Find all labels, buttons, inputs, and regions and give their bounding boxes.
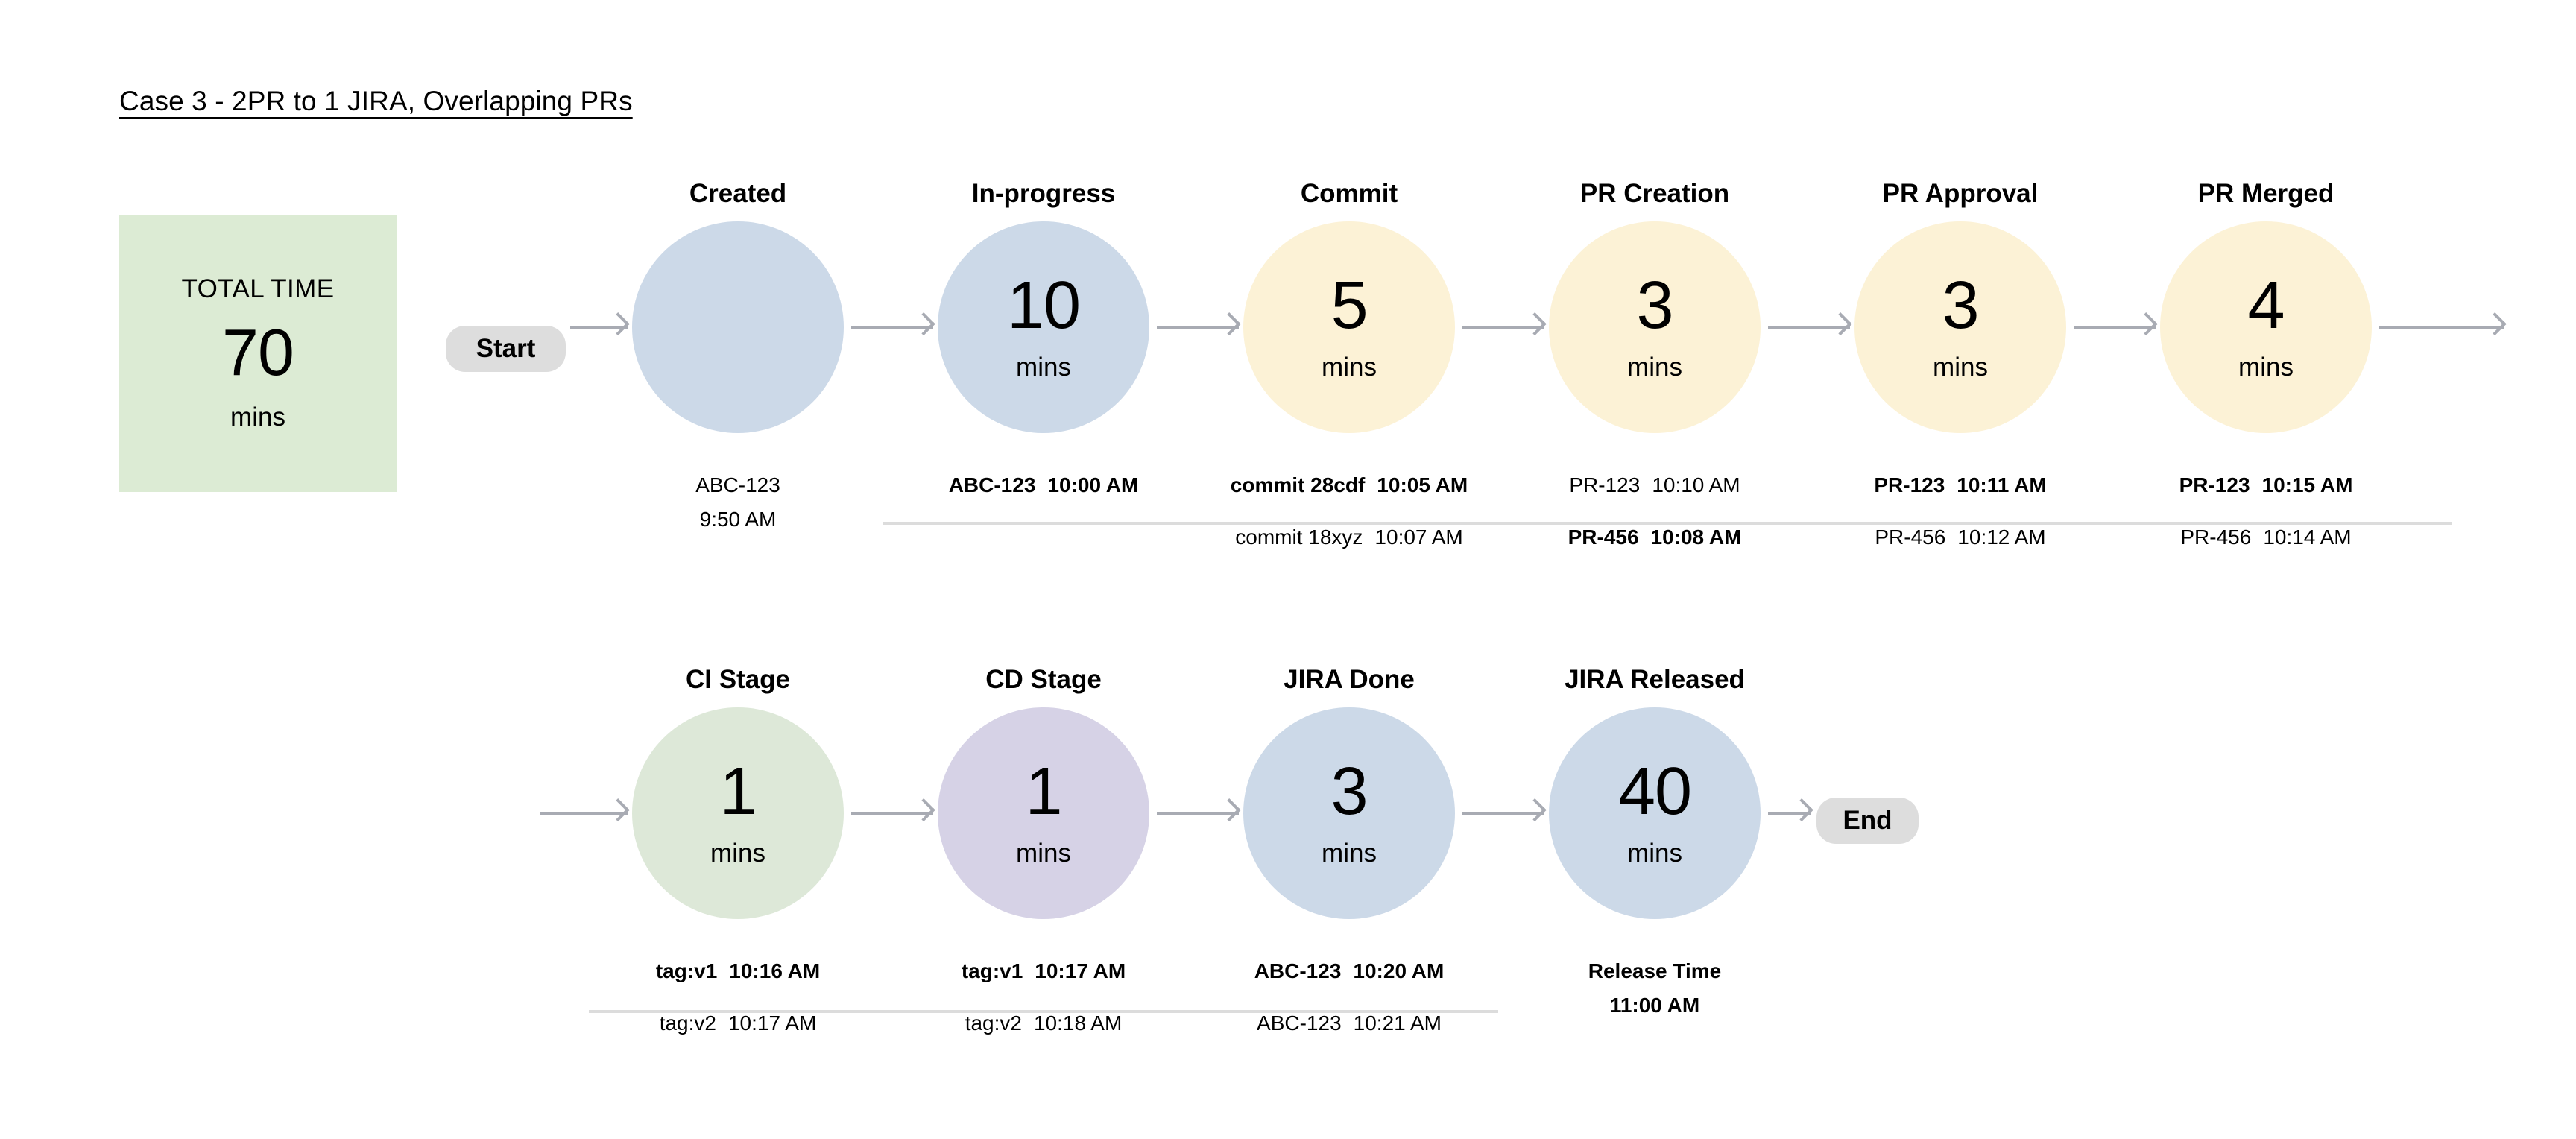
entry-id: PR-123 <box>1569 468 1640 502</box>
stage-duration-unit: mins <box>1627 839 1682 868</box>
entry-time: 10:15 AM <box>2262 468 2353 502</box>
entry-time: 10:08 AM <box>1651 520 1742 555</box>
stage-entry: ABC-12310:20 AM <box>1254 954 1445 988</box>
flow-arrow-icon <box>851 805 933 821</box>
stage-duration-unit: mins <box>1322 353 1377 382</box>
entry-id: commit 18xyz <box>1235 520 1363 555</box>
flow-arrow-icon <box>1768 319 1850 335</box>
stage-duration-value: 5 <box>1330 272 1367 339</box>
stage-duration-unit: mins <box>1016 839 1071 868</box>
stage-duration-unit: mins <box>710 839 765 868</box>
entry-time: 10:05 AM <box>1377 468 1468 502</box>
stage-entries: PR-12310:11 AMPR-45610:12 AM <box>1874 468 2046 555</box>
stage-duration-value: 40 <box>1618 758 1691 825</box>
entry-time: 9:50 AM <box>700 502 777 537</box>
flow-arrow-icon <box>1157 319 1239 335</box>
entry-time: 10:18 AM <box>1034 1006 1122 1041</box>
stage-title: CD Stage <box>985 665 1102 695</box>
stage-duration-value: 4 <box>2247 272 2284 339</box>
stage-entry: Release Time11:00 AM <box>1588 954 1722 988</box>
stage-entry: PR-45610:14 AM <box>2180 520 2351 555</box>
stage-duration-value: 3 <box>1942 272 1978 339</box>
start-badge[interactable]: Start <box>446 326 566 372</box>
flow-arrow-icon <box>2074 319 2156 335</box>
total-time-value: 70 <box>222 315 294 390</box>
entry-time: 10:00 AM <box>1047 468 1138 502</box>
stage-entries: PR-12310:15 AMPR-45610:14 AM <box>2179 468 2353 555</box>
stage-duration-value: 1 <box>719 758 756 825</box>
stage-duration-unit: mins <box>1933 353 1988 382</box>
entry-time: 10:10 AM <box>1652 468 1740 502</box>
flow-arrow-icon <box>851 319 933 335</box>
entry-id: ABC-123 <box>1257 1006 1342 1041</box>
stage-duration-value: 1 <box>1025 758 1061 825</box>
stage-title: JIRA Done <box>1284 665 1415 695</box>
stage-entry: commit 28cdf10:05 AM <box>1231 468 1468 502</box>
stage-circle[interactable]: 4mins <box>2160 221 2372 433</box>
stage-circle[interactable] <box>632 221 844 433</box>
stage-title: Created <box>689 179 786 209</box>
flow-arrow-icon <box>1462 319 1544 335</box>
flow-arrow-icon <box>1462 805 1544 821</box>
stage-entries: PR-12310:10 AMPR-45610:08 AM <box>1568 468 1742 555</box>
stage-duration-value: 3 <box>1636 272 1673 339</box>
entry-id: tag:v1 <box>656 954 717 988</box>
stage-entries: ABC-12310:20 AMABC-12310:21 AM <box>1254 954 1445 1041</box>
stage-duration-unit: mins <box>1322 839 1377 868</box>
entry-time: 10:16 AM <box>729 954 820 988</box>
stage-title: PR Merged <box>2198 179 2334 209</box>
entry-time: 11:00 AM <box>1610 988 1699 1023</box>
flow-arrow-icon <box>1157 805 1239 821</box>
flow-arrow-icon <box>540 805 628 821</box>
entry-id: commit 28cdf <box>1231 468 1366 502</box>
stage-entry: ABC-12310:00 AM <box>949 468 1139 502</box>
flow-arrow-icon <box>570 319 628 335</box>
stage-title: PR Approval <box>1883 179 2039 209</box>
stage-entry: ABC-12310:21 AM <box>1257 1006 1442 1041</box>
stage-entry: PR-12310:10 AM <box>1569 468 1740 502</box>
entry-time: 10:14 AM <box>2263 520 2351 555</box>
stage-entries: tag:v110:17 AMtag:v210:18 AM <box>962 954 1126 1041</box>
entry-id: PR-456 <box>1875 520 1945 555</box>
stage-circle[interactable]: 5mins <box>1243 221 1455 433</box>
stage-entry: commit 18xyz10:07 AM <box>1235 520 1462 555</box>
stage-title: In-progress <box>972 179 1116 209</box>
entry-id: PR-456 <box>1568 520 1639 555</box>
stage-duration-unit: mins <box>2238 353 2294 382</box>
stage-circle[interactable]: 10mins <box>938 221 1149 433</box>
stage-circle[interactable]: 3mins <box>1243 707 1455 919</box>
page-title: Case 3 - 2PR to 1 JIRA, Overlapping PRs <box>119 86 633 117</box>
entry-time: 10:21 AM <box>1354 1006 1442 1041</box>
stage-entries: ABC-1239:50 AM <box>695 468 780 502</box>
stage-entry: tag:v210:17 AM <box>660 1006 817 1041</box>
entry-id: PR-456 <box>2180 520 2251 555</box>
stage-entry: tag:v210:18 AM <box>965 1006 1123 1041</box>
flow-arrow-icon <box>1768 805 1811 821</box>
stage-circle[interactable]: 3mins <box>1549 221 1761 433</box>
entry-id: ABC-123 <box>695 468 780 502</box>
entry-id: ABC-123 <box>949 468 1036 502</box>
entry-id: tag:v2 <box>965 1006 1022 1041</box>
stage-duration-value: 10 <box>1007 272 1080 339</box>
stage-title: JIRA Released <box>1565 665 1745 695</box>
stage-entry: PR-45610:12 AM <box>1875 520 2045 555</box>
diagram-canvas: Case 3 - 2PR to 1 JIRA, Overlapping PRs … <box>0 0 2576 1139</box>
stage-entry: tag:v110:17 AM <box>962 954 1126 988</box>
stage-duration-unit: mins <box>1627 353 1682 382</box>
end-badge[interactable]: End <box>1816 798 1919 844</box>
entry-id: PR-123 <box>2179 468 2250 502</box>
stage-entries: Release Time11:00 AM <box>1588 954 1722 988</box>
stage-title: Commit <box>1301 179 1398 209</box>
stage-entries: tag:v110:16 AMtag:v210:17 AM <box>656 954 820 1041</box>
entry-time: 10:17 AM <box>1035 954 1126 988</box>
entry-time: 10:07 AM <box>1374 520 1462 555</box>
entry-id: PR-123 <box>1874 468 1945 502</box>
stage-duration-value: 3 <box>1330 758 1367 825</box>
entry-time: 10:12 AM <box>1957 520 2045 555</box>
stage-entry: PR-12310:15 AM <box>2179 468 2353 502</box>
stage-entries: commit 28cdf10:05 AMcommit 18xyz10:07 AM <box>1231 468 1468 555</box>
stage-circle[interactable]: 3mins <box>1854 221 2066 433</box>
stage-circle[interactable]: 1mins <box>938 707 1149 919</box>
stage-entry: ABC-1239:50 AM <box>695 468 780 502</box>
entry-id: tag:v2 <box>660 1006 716 1041</box>
entry-id: Release Time <box>1588 954 1722 988</box>
stage-entries: ABC-12310:00 AM <box>949 468 1139 502</box>
entry-time: 10:20 AM <box>1353 954 1444 988</box>
stage-duration-unit: mins <box>1016 353 1071 382</box>
stage-circle[interactable]: 1mins <box>632 707 844 919</box>
entry-id: tag:v1 <box>962 954 1023 988</box>
stage-entry: PR-12310:11 AM <box>1874 468 2046 502</box>
entry-id: ABC-123 <box>1254 954 1342 988</box>
flow-arrow-icon <box>2379 319 2504 335</box>
stage-entry: tag:v110:16 AM <box>656 954 820 988</box>
stage-circle[interactable]: 40mins <box>1549 707 1761 919</box>
total-time-card: TOTAL TIME 70 mins <box>119 215 397 492</box>
entry-time: 10:11 AM <box>1957 468 2046 502</box>
total-time-unit: mins <box>230 403 285 432</box>
total-time-label: TOTAL TIME <box>182 274 335 304</box>
stage-entry: PR-45610:08 AM <box>1568 520 1742 555</box>
stage-title: CI Stage <box>686 665 790 695</box>
entry-time: 10:17 AM <box>728 1006 816 1041</box>
stage-title: PR Creation <box>1580 179 1729 209</box>
